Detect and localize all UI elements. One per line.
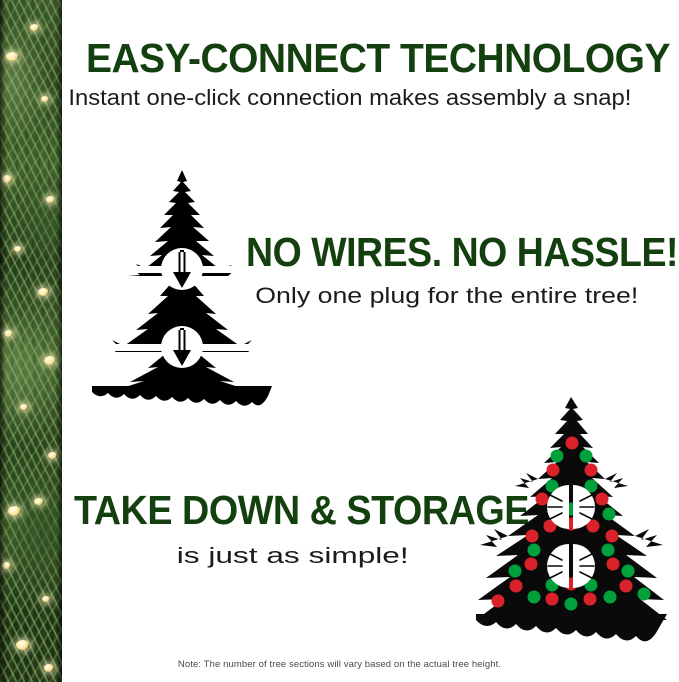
footnote-text: Note: The number of tree sections will v… [0, 659, 679, 670]
subline-take-down: is just as simple! [177, 545, 409, 567]
arrow-down-connect-icon [161, 326, 203, 368]
decorated-tree-silhouette-disconnect [474, 396, 669, 638]
light-bulb-icon [20, 404, 28, 410]
light-bulb-icon [34, 498, 44, 505]
light-bulb-icon [46, 196, 55, 203]
light-bulb-icon [8, 506, 21, 516]
headline-take-down: TAKE DOWN & STORAGE [74, 490, 529, 531]
connect-tree-svg [76, 168, 288, 396]
photo-edge-shadow-right [56, 0, 62, 682]
subline-no-wires: Only one plug for the entire tree! [255, 285, 638, 307]
light-bulb-icon [41, 96, 49, 102]
subline-easy-connect: Instant one-click connection makes assem… [68, 87, 631, 109]
foliage-shading [0, 0, 62, 682]
photo-edge-shadow-left [0, 0, 6, 682]
light-bulb-icon [6, 52, 19, 61]
light-bulb-icon [42, 596, 50, 602]
light-bulb-icon [30, 24, 39, 31]
decor-tree-svg [474, 396, 669, 638]
headline-easy-connect: EASY-CONNECT TECHNOLOGY [86, 38, 670, 79]
headline-no-wires: NO WIRES. NO HASSLE! [246, 232, 678, 273]
light-bulb-icon [16, 640, 30, 650]
light-bulb-icon [14, 246, 22, 252]
pine-branch-photo [0, 0, 62, 682]
light-bulb-icon [38, 288, 49, 296]
arrow-down-connect-icon [161, 248, 203, 290]
light-bulb-icon [44, 356, 56, 365]
infographic-canvas: EASY-CONNECT TECHNOLOGY Instant one-clic… [0, 0, 679, 682]
black-tree-silhouette-connect [76, 168, 288, 396]
